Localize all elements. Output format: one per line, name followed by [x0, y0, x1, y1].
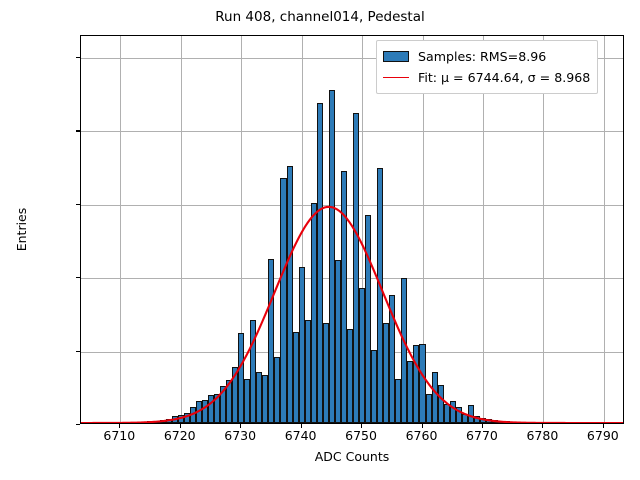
x-tick-label: 6780: [526, 428, 558, 443]
y-axis-label: Entries: [14, 35, 29, 424]
legend-patch-icon: [383, 51, 409, 62]
y-tick-mark: [76, 204, 80, 205]
x-tick-label: 6720: [164, 428, 196, 443]
x-tick-label: 6710: [103, 428, 135, 443]
x-tick-label: 6790: [587, 428, 619, 443]
legend-item-samples: Samples: RMS=8.96: [383, 46, 590, 67]
y-tick-mark: [76, 351, 80, 352]
y-tick-mark: [76, 57, 80, 58]
x-tick-label: 6730: [224, 428, 256, 443]
legend-label-samples: Samples: RMS=8.96: [418, 49, 546, 64]
y-tick-mark: [76, 130, 80, 131]
x-tick-label: 6770: [466, 428, 498, 443]
x-axis-label: ADC Counts: [80, 449, 624, 464]
legend-item-fit: Fit: μ = 6744.64, σ = 8.968: [383, 67, 590, 88]
fit-curve: [81, 36, 623, 423]
legend-label-fit: Fit: μ = 6744.64, σ = 8.968: [418, 70, 590, 85]
x-tick-label: 6740: [285, 428, 317, 443]
figure-canvas: Run 408, channel014, Pedestal 6710672067…: [0, 0, 640, 480]
legend-line-icon: [383, 77, 409, 78]
y-tick-mark: [76, 277, 80, 278]
x-tick-label: 6750: [345, 428, 377, 443]
y-tick-mark: [76, 424, 80, 425]
chart-title: Run 408, channel014, Pedestal: [0, 9, 640, 25]
x-tick-label: 6760: [406, 428, 438, 443]
chart-legend[interactable]: Samples: RMS=8.96 Fit: μ = 6744.64, σ = …: [376, 40, 598, 94]
